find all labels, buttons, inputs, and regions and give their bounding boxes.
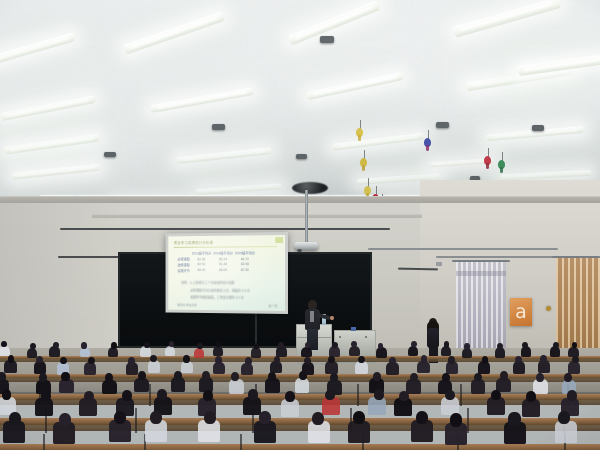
seated-student	[555, 411, 577, 446]
student-head	[421, 355, 428, 362]
student-torso	[34, 361, 46, 373]
decoration-tail	[486, 163, 489, 169]
seated-student	[108, 342, 118, 359]
seated-student	[213, 356, 225, 376]
student-torso	[325, 361, 337, 373]
seated-student	[281, 391, 299, 420]
student-head	[278, 342, 284, 348]
slide-table-row-label: 实践环节	[176, 268, 190, 274]
seated-student	[229, 372, 244, 396]
cabinet-top-object	[351, 327, 356, 331]
decoration-tail	[358, 135, 361, 141]
student-head	[39, 373, 47, 382]
seated-student	[308, 412, 330, 447]
slide-table-cell: 87.30	[234, 267, 256, 273]
wall-trim-beam	[92, 214, 422, 218]
student-head	[150, 355, 157, 362]
chair-frame	[357, 384, 359, 406]
student-head	[515, 356, 522, 363]
seated-student	[79, 391, 97, 420]
chair-frame	[135, 408, 137, 433]
student-head	[325, 390, 335, 401]
student-head	[111, 342, 117, 348]
student-head	[1, 341, 7, 347]
slide-note-line: 实践环节成绩最高，三年合计提升 2.1 分	[190, 295, 277, 301]
student-head	[59, 413, 71, 426]
student-head	[248, 389, 258, 400]
presenter-shirt	[310, 311, 314, 322]
student-torso	[355, 361, 367, 373]
slide-table-cell: 86.05	[212, 267, 234, 273]
student-head	[482, 356, 489, 363]
student-head	[122, 390, 132, 401]
seated-student	[102, 373, 117, 397]
student-head	[332, 342, 338, 348]
light-fixture-bracket	[532, 125, 544, 131]
light-fixture-bracket	[320, 36, 334, 43]
student-torso	[79, 398, 97, 416]
student-head	[358, 356, 365, 363]
hanging-decoration	[360, 150, 368, 172]
light-fixture-bracket	[296, 154, 307, 159]
seated-student	[171, 371, 186, 395]
student-head	[268, 372, 276, 381]
chair-frame	[240, 434, 242, 450]
presentation-slide: 项目学习成绩统计分析表 2013级平均分2014级平均分2015级平均分 必修课…	[168, 235, 285, 311]
projector-ceiling-dome-icon	[292, 182, 328, 194]
student-head	[567, 390, 577, 401]
student-head	[53, 342, 59, 348]
slide-note-line: 必修课程平均分逐年稳步上升，增幅约 2.4 分	[190, 287, 277, 292]
seated-student	[254, 411, 276, 446]
student-head	[558, 411, 570, 424]
student-head	[540, 355, 547, 362]
student-torso	[349, 346, 359, 356]
student-head	[497, 343, 503, 349]
student-head	[442, 373, 450, 382]
student-torso	[84, 362, 96, 374]
seated-student	[394, 391, 412, 420]
slide-table-row: 实践环节85.2086.0587.30	[176, 267, 255, 273]
seated-student	[145, 411, 167, 446]
seated-student	[194, 343, 204, 360]
seated-student	[495, 343, 505, 360]
student-torso	[471, 379, 486, 394]
seated-student	[513, 356, 525, 376]
student-head	[564, 373, 572, 382]
student-torso	[487, 397, 505, 415]
slide-title: 项目学习成绩统计分析表	[174, 238, 278, 248]
seated-student	[134, 371, 149, 395]
student-head	[351, 341, 357, 347]
student-torso	[213, 346, 223, 356]
seated-student	[550, 342, 560, 359]
student-head	[312, 412, 324, 425]
student-torso	[386, 362, 398, 374]
student-head	[174, 371, 182, 380]
decoration-tail	[362, 165, 365, 171]
student-head	[8, 355, 15, 362]
student-head	[285, 391, 295, 402]
slide-footer-right: 第 7 页	[269, 304, 278, 308]
slide-notes: 说明：以上数据为三个年级抽样统计结果必修课程平均分逐年稳步上升，增幅约 2.4 …	[181, 280, 277, 303]
student-head	[114, 411, 126, 424]
student-head	[150, 411, 162, 424]
light-fixture-bracket	[436, 122, 449, 128]
curtain-rod-left	[452, 260, 510, 262]
student-head	[84, 391, 94, 402]
hanging-decoration	[356, 120, 364, 142]
student-torso	[194, 348, 204, 358]
seated-student	[462, 343, 472, 360]
student-head	[536, 373, 544, 382]
student-head	[448, 356, 455, 363]
student-head	[304, 357, 311, 364]
decoration-tail	[500, 167, 503, 173]
seated-student	[84, 357, 96, 377]
student-torso	[568, 361, 580, 373]
student-torso	[165, 346, 175, 356]
chair-frame	[460, 384, 462, 406]
slide-table-cell: 85.20	[191, 267, 212, 273]
seated-student	[368, 389, 386, 418]
student-head	[464, 343, 470, 349]
cabinet-knob-icon	[339, 336, 341, 338]
seated-student	[487, 390, 505, 419]
seated-student	[445, 413, 467, 448]
seated-student	[265, 372, 280, 396]
student-head	[2, 389, 12, 400]
student-torso	[229, 379, 244, 394]
projector-mount-pole	[305, 190, 308, 244]
slide-data-table: 2013级平均分2014级平均分2015级平均分 必修课程82.3683.148…	[176, 250, 255, 273]
slide-title-text: 项目学习成绩统计分析表	[174, 241, 214, 246]
slide-note-line: 说明：以上数据为三个年级抽样统计结果	[181, 280, 277, 285]
student-head	[202, 371, 210, 380]
student-head	[204, 411, 216, 424]
wall-bracket-icon	[436, 262, 442, 266]
hanging-decoration	[484, 148, 492, 170]
student-torso	[148, 360, 160, 372]
student-head	[105, 373, 113, 382]
student-head	[41, 390, 51, 401]
presenter-hand	[330, 316, 334, 320]
seated-student	[411, 411, 433, 446]
seated-student	[471, 373, 486, 397]
student-torso	[348, 421, 370, 443]
curtain-rod-right	[552, 256, 600, 258]
chair-frame	[467, 408, 469, 433]
student-head	[30, 343, 36, 349]
student-torso	[301, 347, 311, 357]
lecture-hall-photo: 项目学习成绩统计分析表 2013级平均分2014级平均分2015级平均分 必修课…	[0, 0, 600, 450]
hanging-decoration	[498, 152, 506, 174]
student-head	[526, 391, 536, 402]
student-head	[450, 413, 462, 426]
projection-screen[interactable]: 项目学习成绩统计分析表 2013级平均分2014级平均分2015级平均分 必修课…	[166, 232, 288, 314]
student-torso	[376, 347, 386, 357]
student-head	[0, 372, 6, 381]
student-head	[305, 342, 311, 348]
student-head	[61, 372, 69, 381]
seated-student	[198, 411, 220, 446]
decoration-tail	[426, 145, 429, 151]
wall-knob-icon	[546, 306, 551, 311]
window-curtain-gray[interactable]	[456, 262, 506, 350]
seated-student	[109, 411, 131, 446]
student-head	[399, 391, 409, 402]
student-head	[245, 357, 252, 364]
student-head	[445, 390, 455, 401]
wall-rail-upper	[60, 228, 390, 230]
student-head	[203, 390, 213, 401]
student-torso	[295, 378, 310, 393]
seated-student	[386, 357, 398, 377]
wall-rail-left	[58, 256, 122, 258]
seated-student	[376, 343, 386, 360]
student-head	[138, 371, 146, 380]
wall-sign-letter-a: a	[510, 298, 532, 326]
student-head	[444, 341, 450, 347]
student-head	[144, 342, 150, 348]
student-head	[197, 343, 203, 349]
student-head	[9, 412, 21, 425]
wall-sign-letter: a	[515, 303, 527, 322]
student-head	[259, 411, 271, 424]
student-head	[231, 372, 239, 381]
student-head	[88, 357, 95, 364]
student-head	[374, 389, 384, 400]
student-head	[215, 356, 222, 363]
light-fixture-bracket	[212, 124, 225, 130]
student-audience	[0, 340, 600, 450]
seated-student	[3, 412, 25, 447]
student-head	[373, 372, 381, 381]
student-head	[128, 357, 135, 364]
seated-student	[148, 355, 160, 375]
student-head	[572, 356, 579, 363]
student-head	[508, 412, 520, 425]
cabinet-knob-icon	[365, 336, 367, 338]
student-head	[81, 342, 87, 348]
student-torso	[394, 398, 412, 416]
seated-student	[59, 372, 74, 396]
slide-footer: 教务处 学业分析 第 7 页	[177, 303, 277, 308]
student-head	[274, 356, 281, 363]
student-head	[500, 371, 508, 380]
ceiling-wall-beam	[0, 196, 600, 203]
student-head	[169, 341, 175, 347]
seated-student	[53, 413, 75, 448]
seated-student	[35, 390, 53, 419]
student-head	[183, 355, 190, 362]
chair-frame	[149, 384, 151, 406]
student-head	[60, 357, 67, 364]
student-head	[522, 342, 528, 348]
hanging-decoration	[424, 130, 432, 152]
seated-student	[348, 411, 370, 446]
seated-student	[504, 412, 526, 447]
student-torso	[513, 361, 525, 373]
slide-footer-left: 教务处 学业分析	[177, 303, 196, 307]
seated-student	[165, 341, 175, 358]
student-head	[416, 411, 428, 424]
curtain-track	[368, 248, 558, 250]
student-head	[36, 356, 43, 363]
chair-frame	[43, 434, 45, 450]
student-head	[553, 342, 559, 348]
student-head	[157, 389, 167, 400]
seated-student	[538, 355, 550, 375]
seated-student	[355, 356, 367, 376]
light-fixture-bracket	[104, 152, 116, 157]
